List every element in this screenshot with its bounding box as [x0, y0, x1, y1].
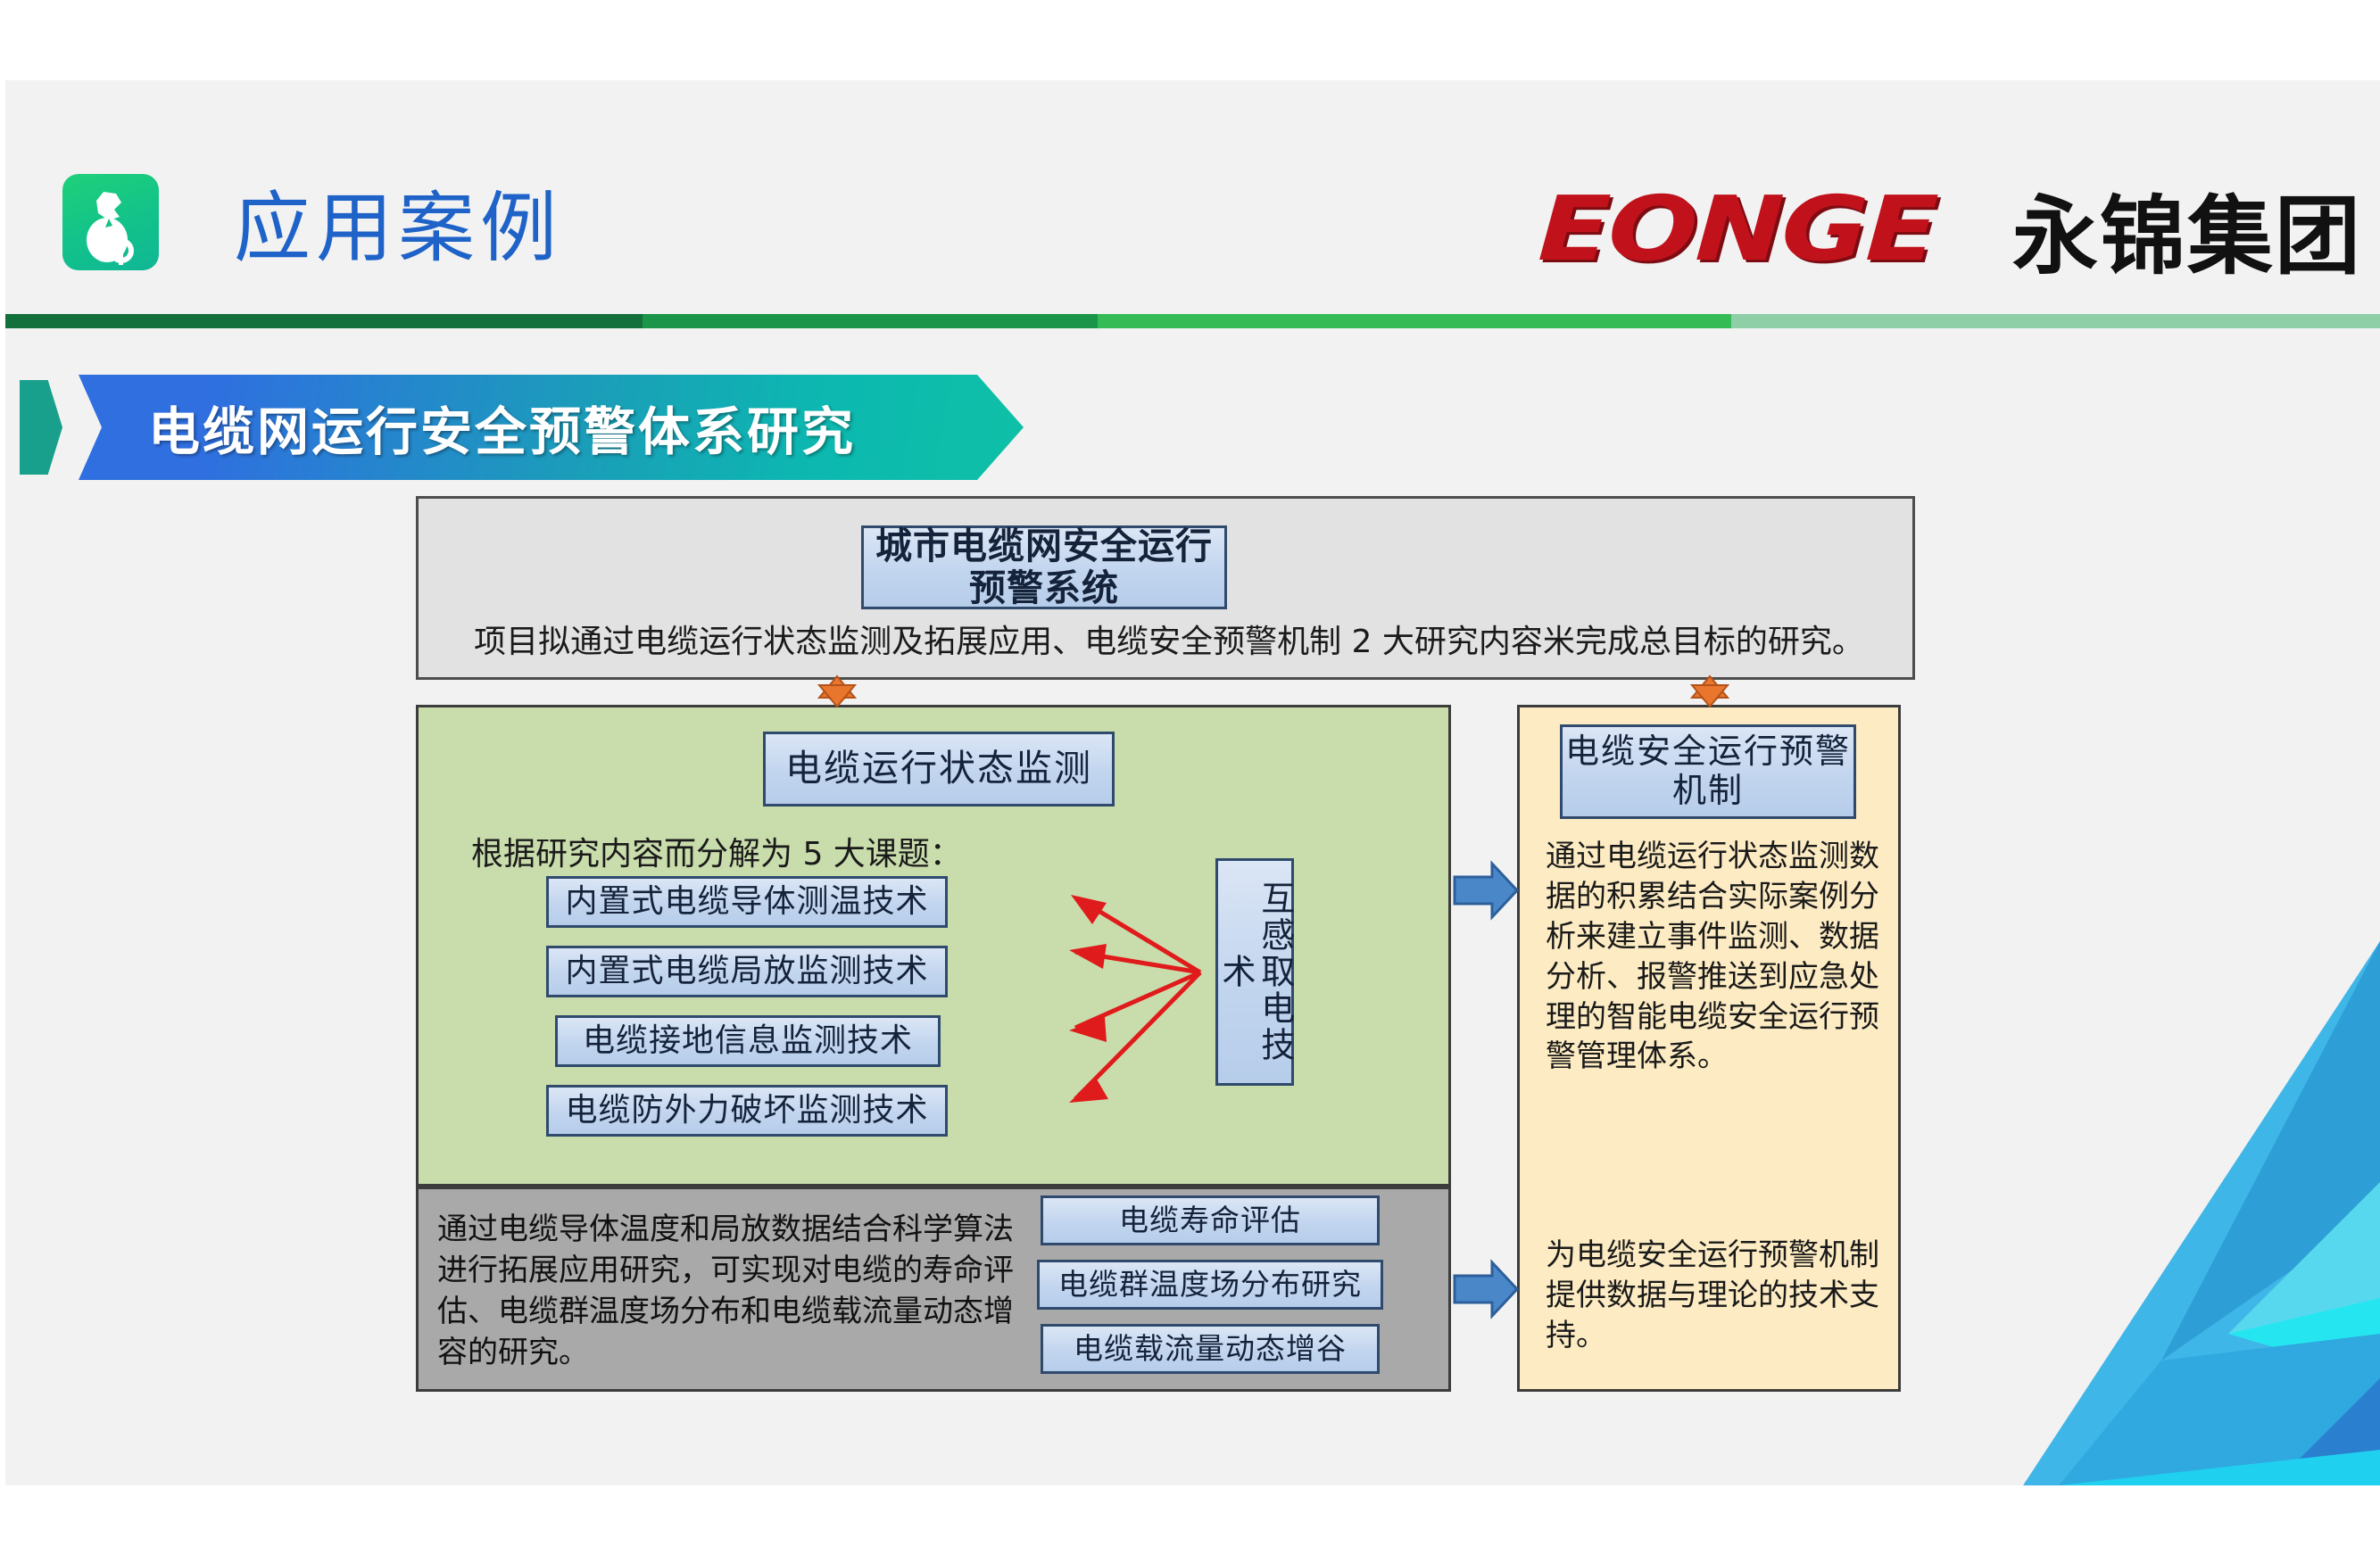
application-box-3: 电缆载流量动态增谷 — [1041, 1324, 1380, 1374]
diagram-container: 城市电缆网安全运行预警系统 项目拟通过电缆运行状态监测及拓展应用、电缆安全预警机… — [0, 0, 2380, 1555]
green-panel-title-box: 电缆运行状态监测 — [763, 732, 1115, 806]
page-bleed-top — [0, 0, 2380, 80]
system-title-box: 城市电缆网安全运行预警系统 — [861, 525, 1227, 609]
task-box-4: 电缆防外力破坏监测技术 — [546, 1085, 948, 1137]
task-box-3: 电缆接地信息监测技术 — [555, 1015, 941, 1067]
orange-double-arrow-right — [1692, 676, 1728, 707]
page-bleed-left — [0, 0, 5, 1555]
task-box-1: 内置式电缆导体测温技术 — [546, 876, 948, 928]
yellow-panel-paragraph-2: 为电缆安全运行预警机制提供数据与理论的技术支持。 — [1546, 1236, 1887, 1356]
yellow-panel-paragraph-1: 通过电缆运行状态监测数据的积累结合实际案例分析来建立事件监测、数据分析、报警推送… — [1546, 837, 1887, 1077]
page-bleed-bottom — [0, 1485, 2380, 1555]
application-box-1: 电缆寿命评估 — [1041, 1195, 1380, 1245]
slide-canvas: 应用案例 EONGE 永锦集团 电缆网运行安全预警体系研究 城市电缆网安全运行预… — [0, 0, 2380, 1555]
task-box-2: 内置式电缆局放监测技术 — [546, 946, 948, 997]
grey-panel-description: 通过电缆导体温度和局放数据结合科学算法进行拓展应用研究，可实现对电缆的寿命评估、… — [437, 1210, 1026, 1374]
green-panel-subtitle: 根据研究内容而分解为 5 大课题： — [471, 828, 962, 874]
vertical-task-box: 互感取电技术 — [1215, 858, 1294, 1086]
blue-arrow-bottom — [1455, 1262, 1517, 1316]
top-panel-description: 项目拟通过电缆运行状态监测及拓展应用、电缆安全预警机制 2 大研究内容米完成总目… — [437, 616, 1901, 662]
yellow-panel-title-box: 电缆安全运行预警机制 — [1560, 724, 1856, 819]
application-box-2: 电缆群温度场分布研究 — [1037, 1260, 1383, 1310]
orange-double-arrow-left — [819, 676, 855, 707]
blue-arrow-top — [1455, 864, 1517, 917]
